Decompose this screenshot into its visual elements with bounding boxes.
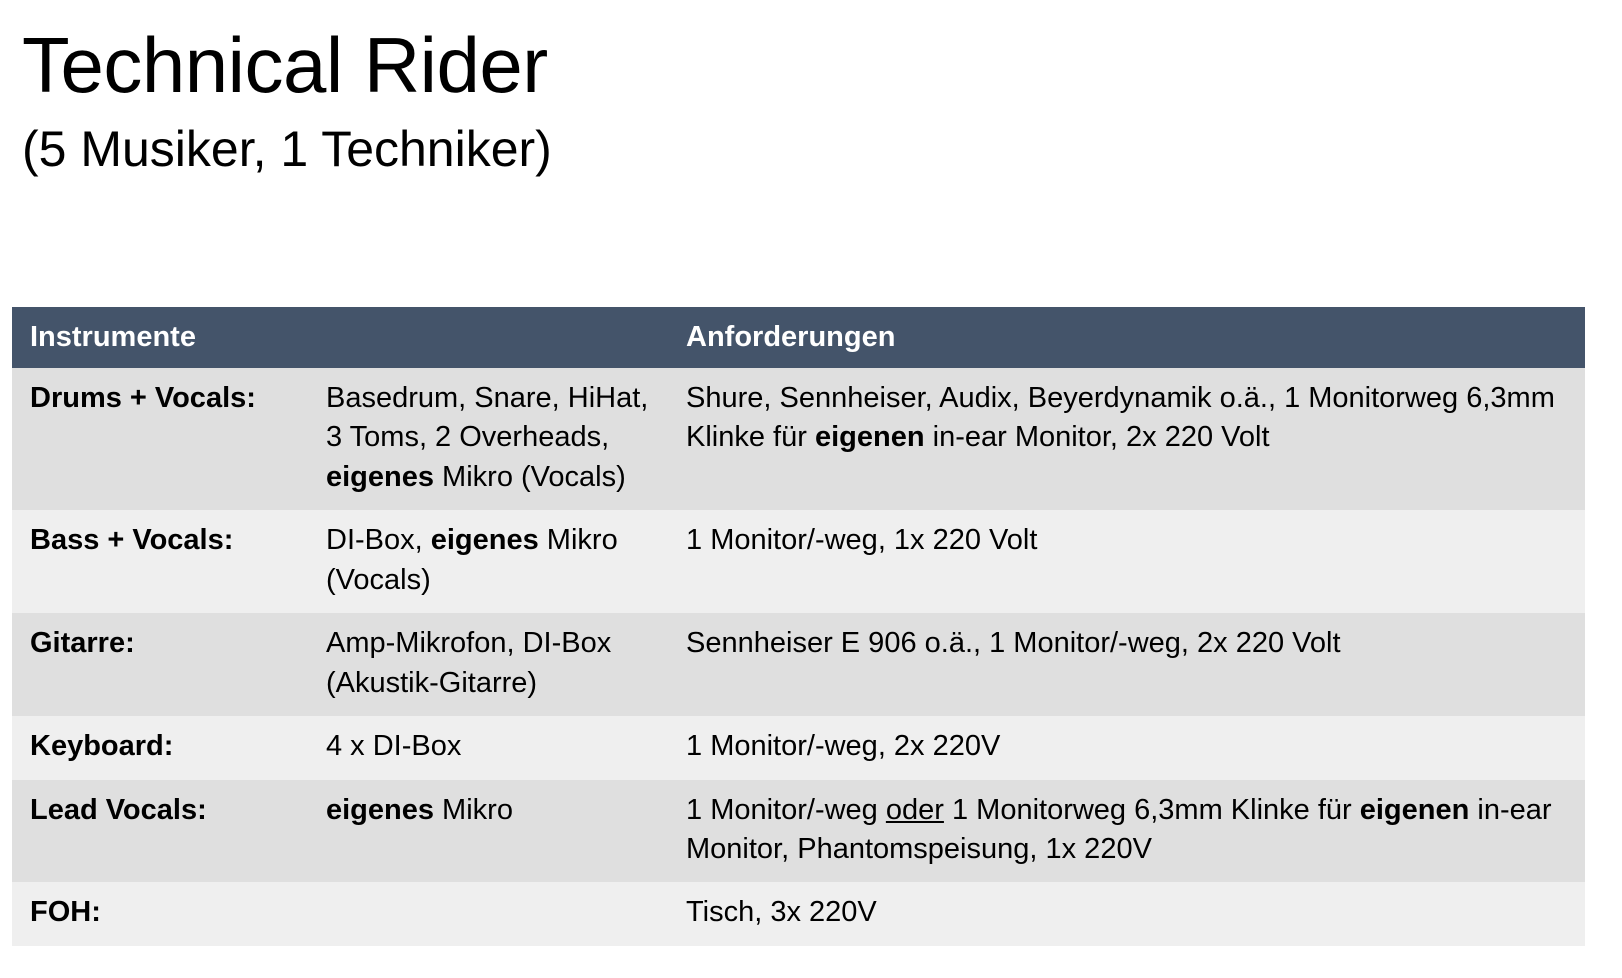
cell-requirements: 1 Monitor/-weg oder 1 Monitorweg 6,3mm K… (668, 780, 1585, 883)
cell-requirements: 1 Monitor/-weg, 1x 220 Volt (668, 510, 1585, 613)
cell-requirements: Tisch, 3x 220V (668, 882, 1585, 945)
cell-equipment (308, 882, 668, 945)
table-row: Gitarre: Amp-Mikrofon, DI-Box (Akustik-G… (12, 613, 1585, 716)
table-row: Keyboard: 4 x DI-Box 1 Monitor/-weg, 2x … (12, 716, 1585, 779)
cell-instrument: FOH: (12, 882, 308, 945)
cell-equipment: 4 x DI-Box (308, 716, 668, 779)
page-title: Technical Rider (22, 28, 1322, 102)
cell-requirements: 1 Monitor/-weg, 2x 220V (668, 716, 1585, 779)
table-row: Bass + Vocals: DI-Box, eigenes Mikro (Vo… (12, 510, 1585, 613)
cell-instrument: Bass + Vocals: (12, 510, 308, 613)
table-row: FOH: Tisch, 3x 220V (12, 882, 1585, 945)
cell-equipment: eigenes Mikro (308, 780, 668, 883)
column-header-instrumente: Instrumente (12, 307, 668, 368)
cell-requirements: Shure, Sennheiser, Audix, Beyerdynamik o… (668, 368, 1585, 510)
cell-instrument: Lead Vocals: (12, 780, 308, 883)
cell-equipment: Basedrum, Snare, HiHat, 3 Toms, 2 Overhe… (308, 368, 668, 510)
title-block: Technical Rider (5 Musiker, 1 Techniker) (22, 28, 1322, 174)
table-header: Instrumente Anforderungen (12, 307, 1585, 368)
page-subtitle: (5 Musiker, 1 Techniker) (22, 124, 1322, 174)
slide-canvas: Technical Rider (5 Musiker, 1 Techniker)… (0, 0, 1622, 978)
table-row: Lead Vocals: eigenes Mikro 1 Monitor/-we… (12, 780, 1585, 883)
cell-instrument: Gitarre: (12, 613, 308, 716)
table-row: Drums + Vocals: Basedrum, Snare, HiHat, … (12, 368, 1585, 510)
cell-instrument: Drums + Vocals: (12, 368, 308, 510)
table-body: Drums + Vocals: Basedrum, Snare, HiHat, … (12, 368, 1585, 946)
cell-requirements: Sennheiser E 906 o.ä., 1 Monitor/-weg, 2… (668, 613, 1585, 716)
cell-instrument: Keyboard: (12, 716, 308, 779)
technical-rider-table: Instrumente Anforderungen Drums + Vocals… (12, 307, 1585, 946)
cell-equipment: Amp-Mikrofon, DI-Box (Akustik-Gitarre) (308, 613, 668, 716)
table-header-row: Instrumente Anforderungen (12, 307, 1585, 368)
column-header-anforderungen: Anforderungen (668, 307, 1585, 368)
cell-equipment: DI-Box, eigenes Mikro (Vocals) (308, 510, 668, 613)
